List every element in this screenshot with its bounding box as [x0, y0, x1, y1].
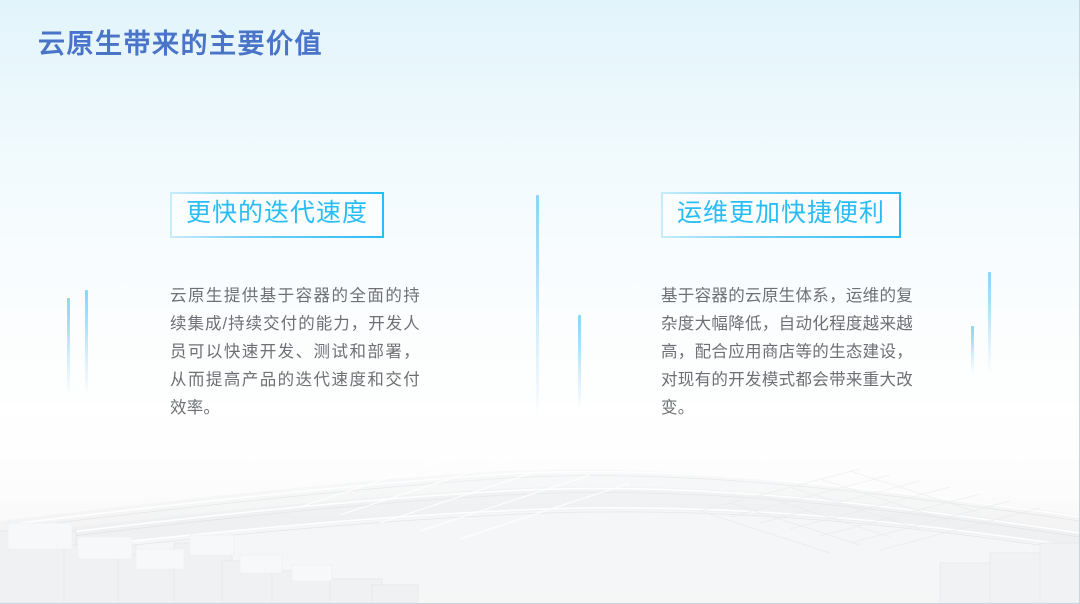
- value-body-right: 基于容器的云原生体系，运维的复杂度大幅降低，自动化程度越来越高，配合应用商店等的…: [661, 282, 913, 422]
- accent-line-1: [67, 298, 70, 396]
- value-column-right: 运维更加快捷便利 基于容器的云原生体系，运维的复杂度大幅降低，自动化程度越来越高…: [661, 192, 923, 422]
- value-body-left: 云原生提供基于容器的全面的持续集成/持续交付的能力，开发人员可以快速开发、测试和…: [170, 282, 420, 422]
- value-heading-left: 更快的迭代速度: [186, 200, 368, 228]
- background-artwork: [0, 403, 1080, 603]
- accent-line-5: [971, 326, 974, 374]
- slide-root: 云原生带来的主要价值 更快的迭代速度 云原生提供基于容器的全面的持续集成/持续交…: [0, 0, 1080, 604]
- page-title: 云原生带来的主要价值: [38, 22, 323, 61]
- accent-line-6: [988, 272, 991, 374]
- accent-line-4: [578, 315, 581, 411]
- accent-line-2: [85, 290, 88, 396]
- value-heading-right: 运维更加快捷便利: [677, 200, 885, 228]
- value-column-left: 更快的迭代速度 云原生提供基于容器的全面的持续集成/持续交付的能力，开发人员可以…: [170, 192, 430, 422]
- accent-line-3: [536, 195, 539, 420]
- value-heading-box-left: 更快的迭代速度: [170, 192, 384, 238]
- value-heading-box-right: 运维更加快捷便利: [661, 192, 901, 238]
